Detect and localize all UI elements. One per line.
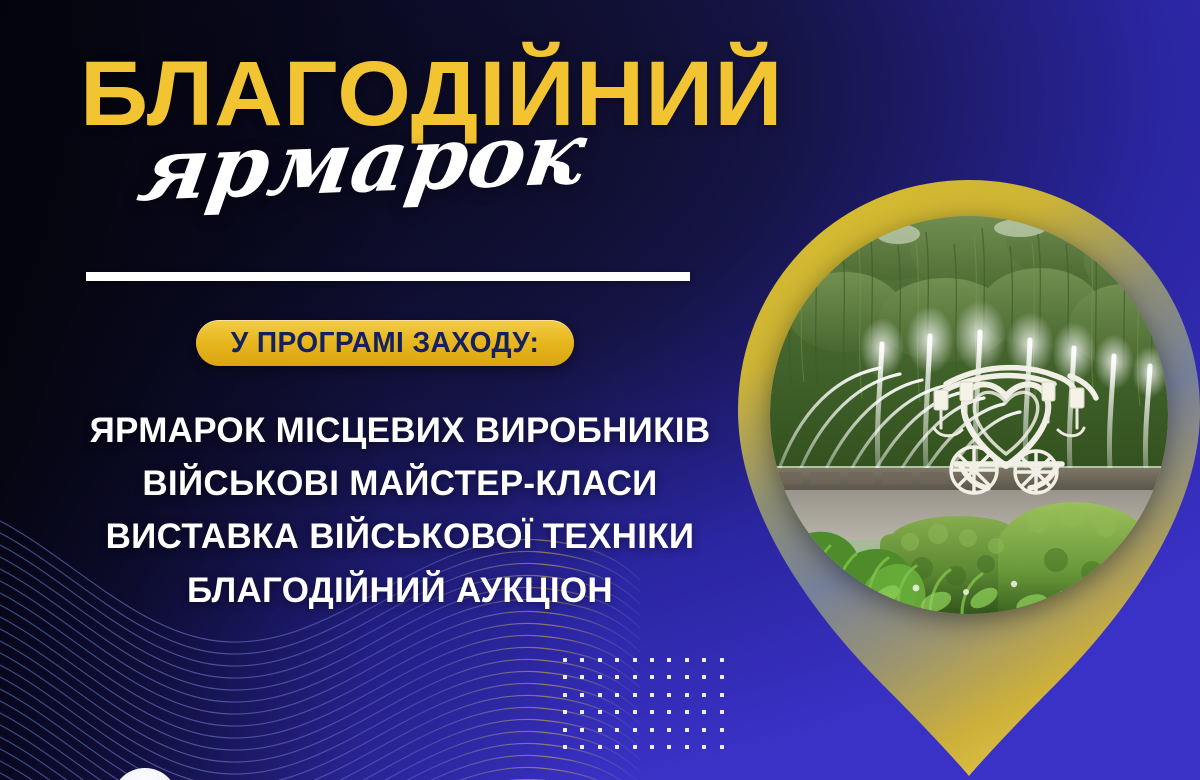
headline-block: БЛАГОДІЙНИЙ ярмарок: [80, 52, 763, 137]
map-pin-photo-frame: [734, 176, 1200, 780]
program-item: ВИСТАВКА ВІЙСЬКОВОЇ ТЕХНІКИ: [40, 510, 760, 563]
park-photo: [770, 216, 1168, 614]
dot-grid-decoration: [563, 658, 737, 762]
program-item: ВІЙСЬКОВІ МАЙСТЕР-КЛАСИ: [40, 457, 760, 510]
program-list: ЯРМАРОК МІСЦЕВИХ ВИРОБНИКІВ ВІЙСЬКОВІ МА…: [40, 404, 760, 617]
program-item: БЛАГОДІЙНИЙ АУКЦІОН: [40, 564, 760, 617]
poster-canvas: БЛАГОДІЙНИЙ ярмарок У ПРОГРАМІ ЗАХОДУ: Я…: [0, 0, 1200, 780]
divider-rule: [86, 272, 690, 281]
program-badge: У ПРОГРАМІ ЗАХОДУ:: [196, 320, 574, 366]
headline-script: ярмарок: [133, 111, 591, 214]
park-photo-illustration: [770, 216, 1168, 614]
program-item: ЯРМАРОК МІСЦЕВИХ ВИРОБНИКІВ: [40, 404, 760, 457]
program-badge-label: У ПРОГРАМІ ЗАХОДУ:: [231, 327, 539, 360]
